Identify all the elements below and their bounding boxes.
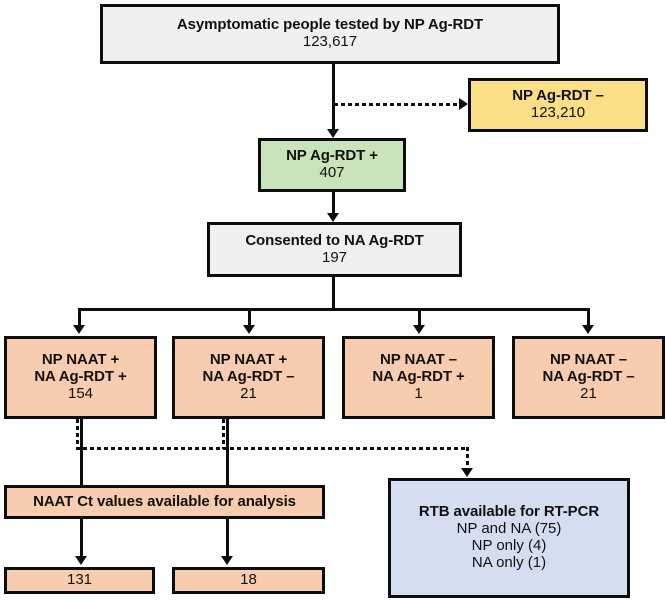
connector-rtb-drop [466,447,469,470]
node-ag-rdt-positive-header: NP Ag-RDT + [286,148,378,165]
flowchart-canvas: Asymptomatic people tested by NP Ag-RDT … [0,0,666,601]
arrowhead-rtb [461,468,473,477]
node-group2-line2: NA Ag-RDT – [203,369,295,386]
arrowhead-group1 [73,325,85,334]
arrowhead-screened-to-positive [327,129,339,138]
node-group3: NP NAAT – NA Ag-RDT + 1 [342,336,495,419]
node-ct-count-1-value: 131 [67,572,92,589]
arrowhead-count1 [75,556,87,565]
node-ag-rdt-positive-value: 407 [319,165,344,182]
connector-rtb-bus [76,447,468,450]
node-group2-value: 21 [240,386,257,403]
node-rtb-header: RTB available for RT-PCR [419,504,599,521]
node-consented-header: Consented to NA Ag-RDT [245,233,423,250]
connector-ct-to-count1 [80,519,83,558]
connector-group2-to-ct [226,419,229,485]
node-screened-value: 123,617 [303,34,357,51]
connector-consented-bus [78,308,590,311]
node-rtb: RTB available for RT-PCR NP and NA (75) … [388,478,630,598]
node-group4: NP NAAT – NA Ag-RDT – 21 [512,336,665,419]
connector-group1-rtb-stem [76,419,79,449]
node-consented-value: 197 [322,250,347,267]
node-group1-value: 154 [68,386,93,403]
node-ct-count-2: 18 [172,567,325,594]
node-group2-line1: NP NAAT + [210,352,287,369]
arrowhead-group2 [243,325,255,334]
connector-ct-to-count2 [226,519,229,558]
node-group1-line1: NP NAAT + [42,352,119,369]
connector-consented-stem [332,277,335,311]
node-ct-values-header: NAAT Ct values available for analysis [33,494,296,511]
arrowhead-group4 [582,325,594,334]
arrowhead-group3 [413,325,425,334]
arrowhead-count2 [221,556,233,565]
node-group3-line2: NA Ag-RDT + [372,369,464,386]
node-group2: NP NAAT + NA Ag-RDT – 21 [172,336,325,419]
node-group1: NP NAAT + NA Ag-RDT + 154 [4,336,157,419]
arrowhead-positive-to-consented [327,213,339,222]
node-screened: Asymptomatic people tested by NP Ag-RDT … [100,4,560,64]
node-ag-rdt-negative-header: NP Ag-RDT – [512,88,603,105]
node-ct-count-1: 131 [4,567,155,594]
node-group3-value: 1 [414,386,422,403]
node-ct-count-2-value: 18 [240,572,257,589]
connector-group2-rtb-stem [222,419,225,449]
node-group4-line1: NP NAAT – [550,352,627,369]
node-rtb-line3: NA only (1) [472,555,546,572]
node-rtb-line1: NP and NA (75) [457,521,562,538]
connector-screened-to-positive [332,64,335,130]
node-screened-header: Asymptomatic people tested by NP Ag-RDT [177,17,483,34]
arrowhead-screened-to-negative [459,98,468,110]
node-group4-line2: NA Ag-RDT – [543,369,635,386]
node-group3-line1: NP NAAT – [380,352,457,369]
connector-positive-to-consented [332,192,335,215]
node-ag-rdt-positive: NP Ag-RDT + 407 [258,138,406,192]
node-ct-values: NAAT Ct values available for analysis [4,485,325,519]
connector-screened-to-negative [334,103,460,106]
node-rtb-line2: NP only (4) [472,538,547,555]
connector-group1-to-ct [80,419,83,485]
node-ag-rdt-negative: NP Ag-RDT – 123,210 [468,78,648,132]
node-group1-line2: NA Ag-RDT + [34,369,126,386]
node-consented: Consented to NA Ag-RDT 197 [207,222,462,277]
node-group4-value: 21 [580,386,597,403]
node-ag-rdt-negative-value: 123,210 [531,105,585,122]
